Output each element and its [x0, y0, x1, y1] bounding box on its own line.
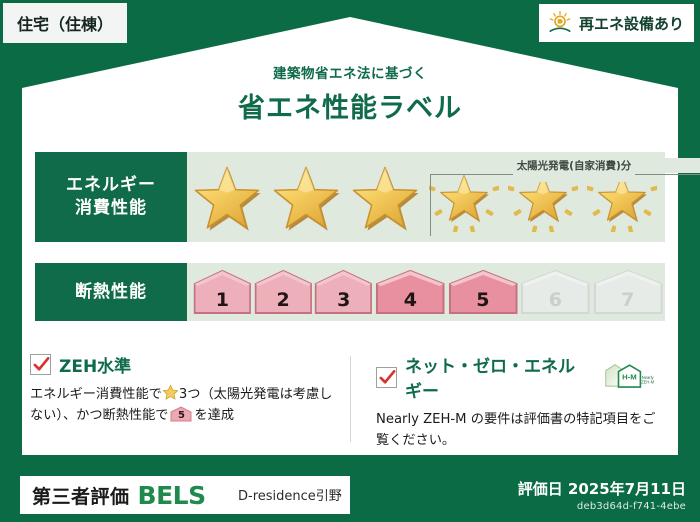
insulation-grade-4: 4 [375, 269, 445, 315]
dwelling-type-tag: 住宅（住棟） [3, 3, 127, 43]
inline-star-icon [162, 384, 179, 401]
insulation-grade-3: 3 [314, 269, 373, 315]
zeh-m-logo-text: H-M [622, 373, 637, 382]
energy-performance-label: 住宅（住棟） 再エネ設備あり 建築物省エネ法に基づく 省エネ性能ラベル エネルギ… [0, 0, 700, 522]
star-icon [587, 162, 657, 232]
zeh-text-end: を達成 [194, 408, 234, 423]
energy-performance-row: エネルギー 消費性能 太陽光発電(自家消費)分 [35, 152, 665, 242]
page-title: 建築物省エネ法に基づく 省エネ性能ラベル [0, 62, 700, 125]
renewable-equipment-badge: 再エネ設備あり [539, 4, 694, 42]
grade-value: 2 [276, 289, 289, 315]
energy-performance-label-box: エネルギー 消費性能 [35, 152, 187, 242]
net-zero-header: ネット・ゼロ・エネルギー H-M Nearly ZEH-M [376, 352, 656, 402]
insulation-performance-row: 断熱性能 1234567 [35, 263, 665, 321]
insulation-grade-7: 7 [593, 269, 663, 315]
title-main: 省エネ性能ラベル [0, 86, 700, 125]
star-icon [508, 162, 578, 232]
energy-label-line2: 消費性能 [75, 197, 147, 220]
check-icon [378, 368, 397, 387]
insulation-grade-2: 2 [254, 269, 313, 315]
zeh-standard-header: ZEH水準 [30, 352, 336, 377]
dwelling-type-text: 住宅（住棟） [17, 11, 113, 35]
evaluation-date: 評価日 2025年7月11日 [518, 478, 686, 499]
star-icon [429, 162, 499, 232]
star-1 [187, 152, 266, 242]
zeh-panels: ZEH水準 エネルギー消費性能で3つ（太陽光発電は考慮しない）、かつ断熱性能で5… [30, 352, 670, 448]
star-icon [192, 162, 262, 232]
energy-label-line1: エネルギー [66, 174, 156, 197]
star-icon [350, 162, 420, 232]
insulation-grades-area: 1234567 [187, 263, 665, 321]
insulation-label-text: 断熱性能 [75, 281, 147, 304]
building-name: D-residence引野 [238, 485, 342, 504]
insulation-grade-6: 6 [520, 269, 590, 315]
star-2 [266, 152, 345, 242]
inline-grade-value: 5 [170, 408, 192, 424]
title-subtitle: 建築物省エネ法に基づく [0, 62, 700, 82]
check-icon [32, 355, 51, 374]
zeh-standard-description: エネルギー消費性能で3つ（太陽光発電は考慮しない）、かつ断熱性能で5を達成 [30, 384, 336, 427]
zeh-text-before-star: エネルギー消費性能で [30, 387, 162, 402]
renewable-badge-text: 再エネ設備あり [579, 13, 684, 34]
bels-logo-text: BELS [138, 481, 206, 510]
star-rating [187, 152, 665, 242]
zeh-standard-checkbox [30, 354, 51, 375]
insulation-label-box: 断熱性能 [35, 263, 187, 321]
grade-value: 3 [337, 289, 350, 315]
inline-grade-badge: 5 [170, 406, 192, 422]
grade-value: 1 [216, 289, 229, 315]
zeh-standard-panel: ZEH水準 エネルギー消費性能で3つ（太陽光発電は考慮しない）、かつ断熱性能で5… [30, 352, 350, 448]
net-zero-description: Nearly ZEH-M の要件は評価書の特記項目をご覧ください。 [376, 409, 656, 452]
net-zero-checkbox [376, 367, 397, 388]
grade-value: 7 [621, 289, 634, 315]
star-4 [424, 152, 503, 242]
insulation-grade-5: 5 [448, 269, 518, 315]
grade-value: 5 [476, 289, 489, 315]
insulation-grade-scale: 1234567 [187, 263, 665, 321]
net-zero-energy-panel: ネット・ゼロ・エネルギー H-M Nearly ZEH-M Nearly ZE [350, 352, 670, 448]
third-party-label: 第三者評価 [32, 482, 130, 509]
zeh-standard-title: ZEH水準 [59, 352, 131, 377]
star-5 [503, 152, 582, 242]
evaluation-id: deb3d64d-f741-4ebe [518, 501, 686, 512]
grade-value: 4 [404, 289, 417, 315]
star-3 [345, 152, 424, 242]
grade-value: 6 [549, 289, 562, 315]
star-icon [271, 162, 341, 232]
sun-icon [547, 10, 573, 36]
footer-evaluation-info: 評価日 2025年7月11日 deb3d64d-f741-4ebe [518, 478, 686, 512]
insulation-grade-1: 1 [193, 269, 252, 315]
zeh-m-logo-sub2: ZEH-M [641, 379, 655, 384]
net-zero-title: ネット・ゼロ・エネルギー [405, 352, 591, 402]
zeh-m-logo-icon: H-M Nearly ZEH-M [603, 362, 656, 392]
energy-stars-area: 太陽光発電(自家消費)分 [187, 152, 665, 242]
star-6 [582, 152, 661, 242]
